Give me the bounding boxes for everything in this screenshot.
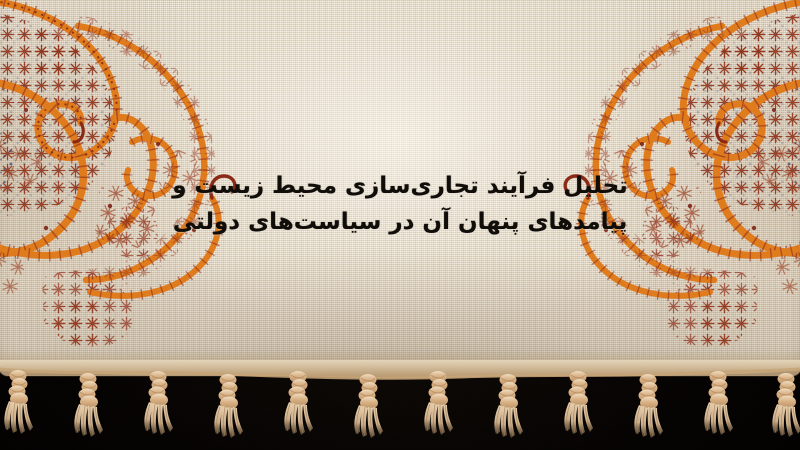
title-card-canvas: تحلیل فرآیند تجاری‌سازی محیط زیست و پیام…: [0, 0, 800, 450]
title-line-1: تحلیل فرآیند تجاری‌سازی محیط زیست و: [0, 168, 800, 204]
title-line-2: پیامدهای پنهان آن در سیاست‌های دولتی: [0, 204, 800, 240]
title-block: تحلیل فرآیند تجاری‌سازی محیط زیست و پیام…: [0, 168, 800, 240]
cloth-hem-edge: [0, 352, 800, 376]
